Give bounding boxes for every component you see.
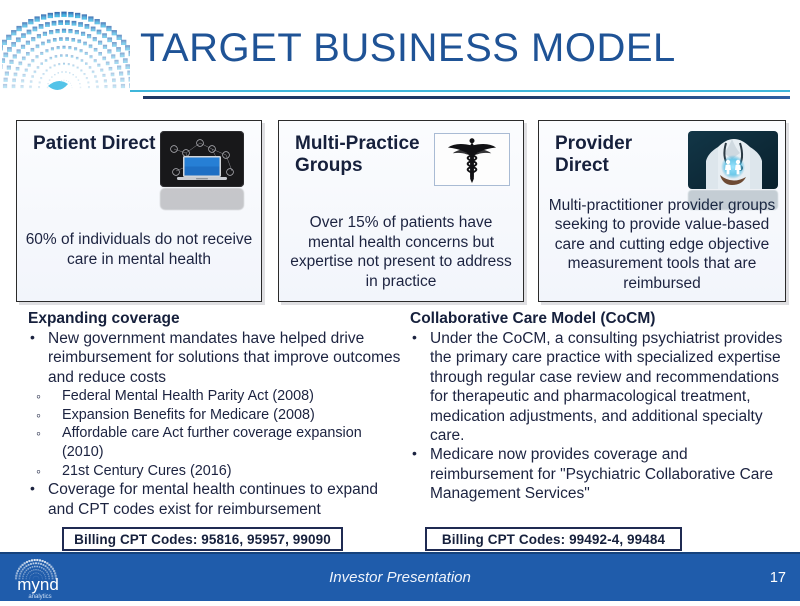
doctor-holding-family-photo (688, 131, 778, 189)
list-item: 21st Century Cures (2016) (28, 462, 402, 481)
billing-cpt-codes-right: Billing CPT Codes: 99492-4, 99484 (425, 527, 682, 551)
billing-cpt-codes-left: Billing CPT Codes: 95816, 95957, 99090 (62, 527, 343, 551)
left-bullet-list-2: Coverage for mental health continues to … (22, 480, 402, 519)
footer-center-text: Investor Presentation (0, 554, 800, 601)
caduceus-icon (434, 133, 510, 186)
card-title: Multi-Practice Groups (295, 133, 425, 177)
list-item: Coverage for mental health continues to … (22, 480, 402, 519)
right-column-heading: Collaborative Care Model (CoCM) (410, 310, 786, 328)
list-item: Under the CoCM, a consulting psychiatris… (404, 329, 786, 445)
page-title: TARGET BUSINESS MODEL (140, 20, 780, 80)
mynd-fan-logo-icon (2, 2, 130, 104)
right-content-column: Collaborative Care Model (CoCM) Under th… (404, 310, 786, 504)
left-bullet-list: New government mandates have helped driv… (22, 329, 402, 387)
card-title: Provider Direct (555, 133, 665, 177)
list-item: Medicare now provides coverage and reimb… (404, 445, 786, 503)
list-item: Federal Mental Health Parity Act (2008) (28, 387, 402, 406)
title-rule-navy (143, 96, 790, 99)
page-number: 17 (770, 554, 786, 601)
laptop-network-photo (160, 131, 244, 187)
list-item: Expansion Benefits for Medicare (2008) (28, 406, 402, 425)
right-bullet-list: Under the CoCM, a consulting psychiatris… (404, 329, 786, 504)
card-body: Multi-practitioner provider groups seeki… (547, 196, 777, 294)
left-sub-bullet-list: Federal Mental Health Parity Act (2008) … (28, 387, 402, 480)
title-rule-cyan (130, 90, 790, 92)
list-item: Affordable care Act further coverage exp… (28, 424, 402, 461)
card-body: Over 15% of patients have mental health … (287, 213, 515, 291)
slide-canvas: TARGET BUSINESS MODEL Patient Direct 60%… (0, 0, 800, 601)
left-column-heading: Expanding coverage (28, 310, 402, 328)
card-body: 60% of individuals do not receive care i… (25, 230, 253, 269)
card-title: Patient Direct (33, 133, 155, 155)
left-content-column: Expanding coverage New government mandat… (22, 310, 402, 519)
list-item: New government mandates have helped driv… (22, 329, 402, 387)
